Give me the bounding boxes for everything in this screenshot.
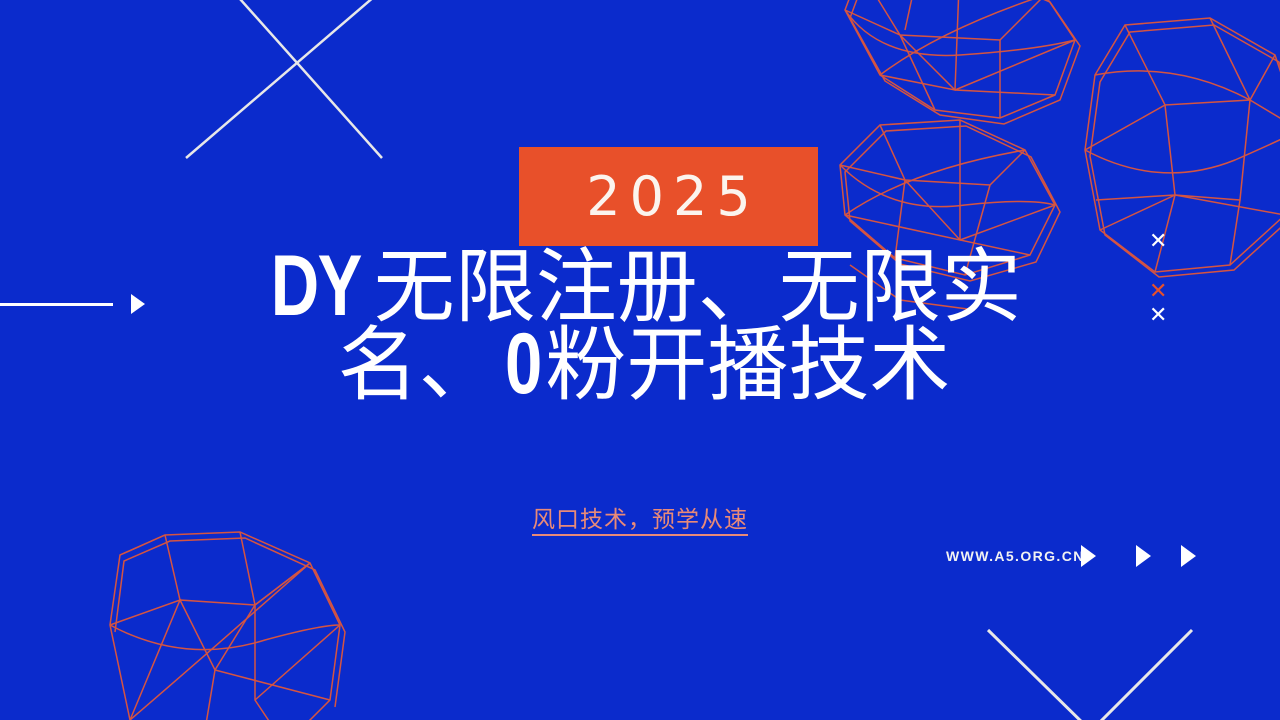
wireframe-top-right-blob [845,0,1080,124]
page-title-line-2-prefix: 名、 [338,321,500,411]
page-title-line-1-rest: 无限注册、无限实 [374,243,1022,333]
page-subtitle: 风口技术，预学从速 [0,500,1280,534]
page-title-latin-prefix: DY [271,248,361,324]
play-triangle-icon-1 [1081,545,1096,567]
page-title: DY无限注册、无限实 名、0粉开播技术 [0,248,1280,404]
page-title-line-2-rest: 粉开播技术 [545,321,950,411]
x-cross-line-top-left [186,0,382,158]
page-title-line-1: DY无限注册、无限实 [0,248,1280,326]
slide-canvas: ✕ ✕ ✕ 2025 DY无限注册、无限实 名、0粉开播技术 风口技术，预学从速… [0,0,1280,720]
play-triangle-icon-2 [1136,545,1151,567]
v-chevron-line-bottom-right [988,630,1192,720]
wireframe-bottom-left-sphere [110,532,345,720]
footer-url-label: WWW.A5.ORG.CN [946,548,1085,564]
footer-url-block: WWW.A5.ORG.CN [946,545,1196,567]
page-title-digit: 0 [505,326,541,402]
year-badge-label: 2025 [577,170,759,224]
play-triangle-icon-3 [1181,545,1196,567]
wireframe-right-sphere [1085,18,1280,277]
year-badge: 2025 [519,147,818,246]
page-title-line-2: 名、0粉开播技术 [8,326,1280,404]
